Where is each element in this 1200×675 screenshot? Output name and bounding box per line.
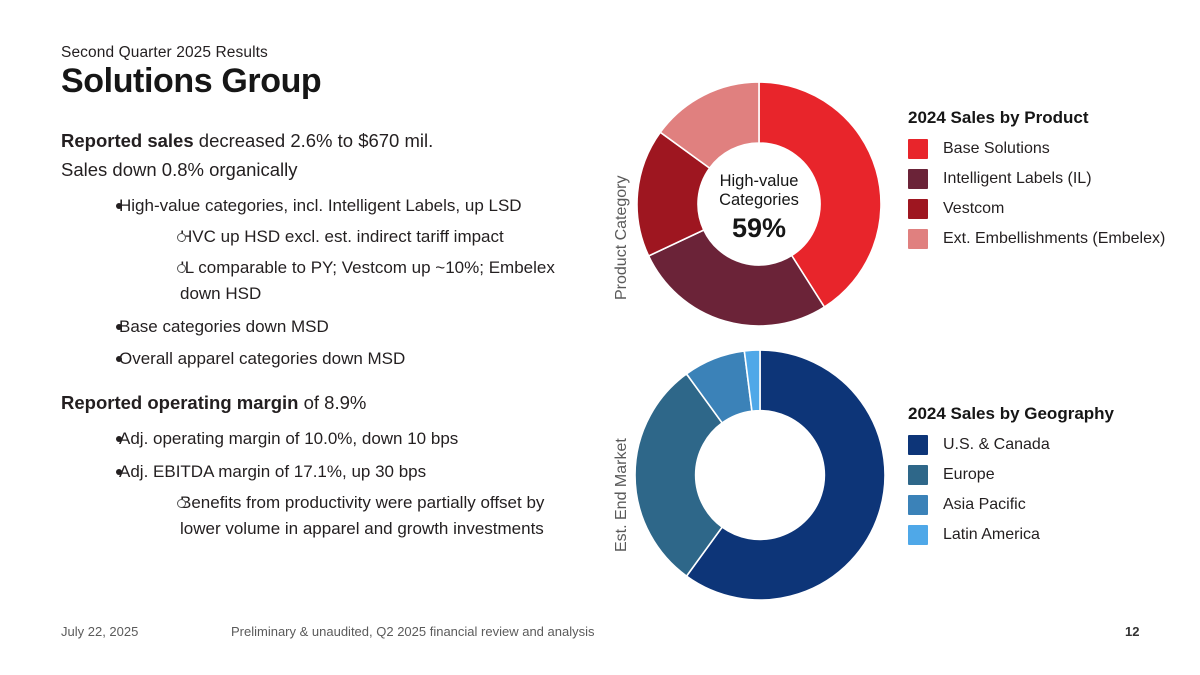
legend-swatch-icon [908,199,928,219]
legend-swatch-icon [908,495,928,515]
axis-label-est-end-market: Est. End Market [613,438,631,552]
legend-swatch-icon [908,229,928,249]
legend-label: Ext. Embellishments (Embelex) [943,230,1165,248]
legend-swatch-icon [908,139,928,159]
legend-label: Latin America [943,526,1040,544]
legend-item[interactable]: Base Solutions [908,139,1165,159]
list-item: HVC up HSD excl. est. indirect tariff im… [149,224,566,250]
sub-bullet-group: HVC up HSD excl. est. indirect tariff im… [149,224,566,306]
bullet-group-sales: High-value categories, incl. Intelligent… [88,193,566,372]
legend-title: 2024 Sales by Product [908,108,1165,128]
lead-statement-margin: Reported operating margin of 8.9% [61,389,566,417]
bullet-text: High-value categories, incl. Intelligent… [119,196,522,215]
list-item: Base categories down MSD [88,314,566,340]
donut-center-label-product: High-value Categories 59% [689,172,829,245]
center-label-line1: High-value [689,172,829,191]
lead-statement: Reported sales decreased 2.6% to $670 mi… [61,127,566,155]
slide-eyebrow: Second Quarter 2025 Results [61,44,268,62]
center-label-line2: Categories [689,191,829,210]
body-content: Reported sales decreased 2.6% to $670 mi… [61,127,566,549]
bullet-text: HVC up HSD excl. est. indirect tariff im… [180,227,504,246]
legend-item[interactable]: U.S. & Canada [908,435,1114,455]
legend-label: Asia Pacific [943,496,1026,514]
legend-geography: 2024 Sales by Geography U.S. & Canada Eu… [908,404,1114,555]
footer-note: Preliminary & unaudited, Q2 2025 financi… [231,624,594,639]
bullet-text: Overall apparel categories down MSD [119,349,405,368]
list-item: Benefits from productivity were partiall… [149,490,566,542]
axis-label-product-category: Product Category [613,175,631,300]
list-item: IL comparable to PY; Vestcom up ~10%; Em… [149,255,566,307]
donut-chart-geography [634,349,886,601]
legend-item[interactable]: Asia Pacific [908,495,1114,515]
sub-bullet-group: Benefits from productivity were partiall… [149,490,566,542]
legend-item[interactable]: Europe [908,465,1114,485]
lead-rest: decreased 2.6% to $670 mil. [194,130,434,151]
legend-swatch-icon [908,465,928,485]
legend-item[interactable]: Latin America [908,525,1114,545]
bullet-text: Adj. EBITDA margin of 17.1%, up 30 bps [119,462,426,481]
bullet-text: Benefits from productivity were partiall… [180,493,544,538]
legend-item[interactable]: Vestcom [908,199,1165,219]
slide-root: Second Quarter 2025 Results Solutions Gr… [0,0,1200,675]
legend-label: Europe [943,466,995,484]
legend-title: 2024 Sales by Geography [908,404,1114,424]
legend-label: Intelligent Labels (IL) [943,170,1092,188]
lead2-bold: Reported operating margin [61,392,298,413]
bullet-text: Adj. operating margin of 10.0%, down 10 … [119,429,458,448]
center-value: 59% [689,213,829,245]
lead-bold: Reported sales [61,130,194,151]
legend-swatch-icon [908,435,928,455]
footer-page-number: 12 [1125,624,1139,639]
legend-label: Vestcom [943,200,1004,218]
legend-label: Base Solutions [943,140,1050,158]
bullet-text: Base categories down MSD [119,317,329,336]
legend-label: U.S. & Canada [943,436,1050,454]
list-item: Adj. operating margin of 10.0%, down 10 … [88,426,566,452]
legend-swatch-icon [908,525,928,545]
legend-swatch-icon [908,169,928,189]
bullet-group-margin: Adj. operating margin of 10.0%, down 10 … [88,426,566,541]
lead2-rest: of 8.9% [298,392,366,413]
bullet-text: IL comparable to PY; Vestcom up ~10%; Em… [180,258,555,303]
list-item: Overall apparel categories down MSD [88,346,566,372]
list-item: High-value categories, incl. Intelligent… [88,193,566,306]
list-item: Adj. EBITDA margin of 17.1%, up 30 bps B… [88,459,566,541]
footer-date: July 22, 2025 [61,624,138,639]
legend-product: 2024 Sales by Product Base Solutions Int… [908,108,1165,259]
sub-statement: Sales down 0.8% organically [61,156,566,184]
legend-item[interactable]: Ext. Embellishments (Embelex) [908,229,1165,249]
page-title: Solutions Group [61,62,321,101]
legend-item[interactable]: Intelligent Labels (IL) [908,169,1165,189]
